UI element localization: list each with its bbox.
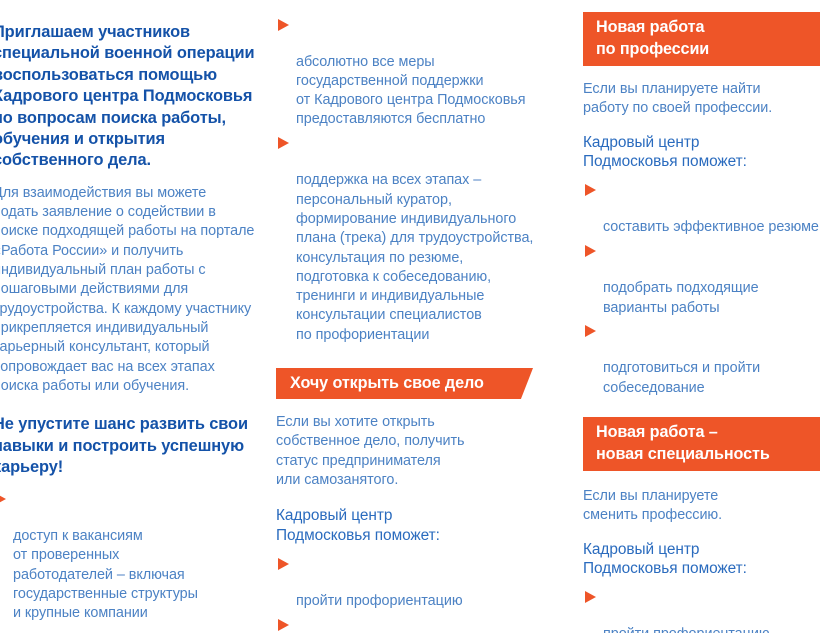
left-subheading: Не упустите шанс развить свои навыки и п… <box>0 414 255 478</box>
list-item: пройти профориентацию <box>583 587 820 633</box>
intro-paragraph: Для взаимодействия вы можете подать заяв… <box>0 184 255 396</box>
arrow-bullet-icon <box>0 493 6 505</box>
list-item: доступ к вакансиям от проверенных работо… <box>0 488 255 623</box>
same-profession-list: составить эффективное резюме подобрать п… <box>583 180 820 398</box>
banner-new-job-same-profession: Новая работа по профессии <box>583 12 820 66</box>
list-item-label: пройти профориентацию <box>296 593 463 609</box>
new-specialty-helper-title: Кадровый центр Подмосковья поможет: <box>583 540 820 579</box>
right-column: Новая работа по профессии Если вы планир… <box>583 0 820 633</box>
list-item-label: подобрать подходящие варианты работы <box>603 280 759 315</box>
banner-new-job-new-specialty: Новая работа – новая специальность <box>583 417 820 471</box>
arrow-bullet-icon <box>585 325 596 337</box>
arrow-bullet-icon <box>585 245 596 257</box>
list-item: подобрать подходящие варианты работы <box>583 241 820 318</box>
list-item-label: составить эффективное резюме <box>603 219 819 235</box>
list-item: обучиться основам предпринимательства ил… <box>276 614 556 633</box>
list-item-label: поддержка на всех этапах – персональный … <box>296 172 533 342</box>
own-business-intro: Если вы хотите открыть собственное дело,… <box>276 413 556 490</box>
left-column: Приглашаем участников специальной военно… <box>0 0 255 633</box>
arrow-bullet-icon <box>585 184 596 196</box>
arrow-bullet-icon <box>278 137 289 149</box>
arrow-bullet-icon <box>278 619 289 631</box>
poster-root: Приглашаем участников специальной военно… <box>0 0 820 633</box>
list-item-label: пройти профориентацию <box>603 626 770 633</box>
list-item: подготовиться и пройти собеседование <box>583 321 820 398</box>
arrow-bullet-icon <box>278 558 289 570</box>
lead-paragraph: Приглашаем участников специальной военно… <box>0 22 255 172</box>
new-specialty-intro: Если вы планируете сменить профессию. <box>583 487 820 526</box>
own-business-helper-title: Кадровый центр Подмосковья поможет: <box>276 506 556 545</box>
arrow-bullet-icon <box>585 591 596 603</box>
list-item-label: доступ к вакансиям от проверенных работо… <box>13 528 198 621</box>
list-item: составить эффективное резюме <box>583 180 820 238</box>
list-item: поддержка на всех этапах – персональный … <box>276 133 556 345</box>
list-item: абсолютно все меры государственной подде… <box>276 14 556 130</box>
list-item-label: абсолютно все меры государственной подде… <box>296 54 525 128</box>
own-business-list: пройти профориентацию обучиться основам … <box>276 553 556 633</box>
list-item-label: подготовиться и пройти собеседование <box>603 360 760 395</box>
same-profession-helper-title: Кадровый центр Подмосковья поможет: <box>583 133 820 172</box>
new-specialty-list: пройти профориентацию подобрать професси… <box>583 587 820 633</box>
left-benefits-list: доступ к вакансиям от проверенных работо… <box>0 488 255 623</box>
banner-own-business: Хочу открыть свое дело <box>276 368 533 399</box>
arrow-bullet-icon <box>278 19 289 31</box>
middle-column: абсолютно все меры государственной подде… <box>276 0 556 633</box>
list-item: пройти профориентацию <box>276 553 556 611</box>
support-measures-list: абсолютно все меры государственной подде… <box>276 14 556 345</box>
same-profession-intro: Если вы планируете найти работу по своей… <box>583 80 820 119</box>
